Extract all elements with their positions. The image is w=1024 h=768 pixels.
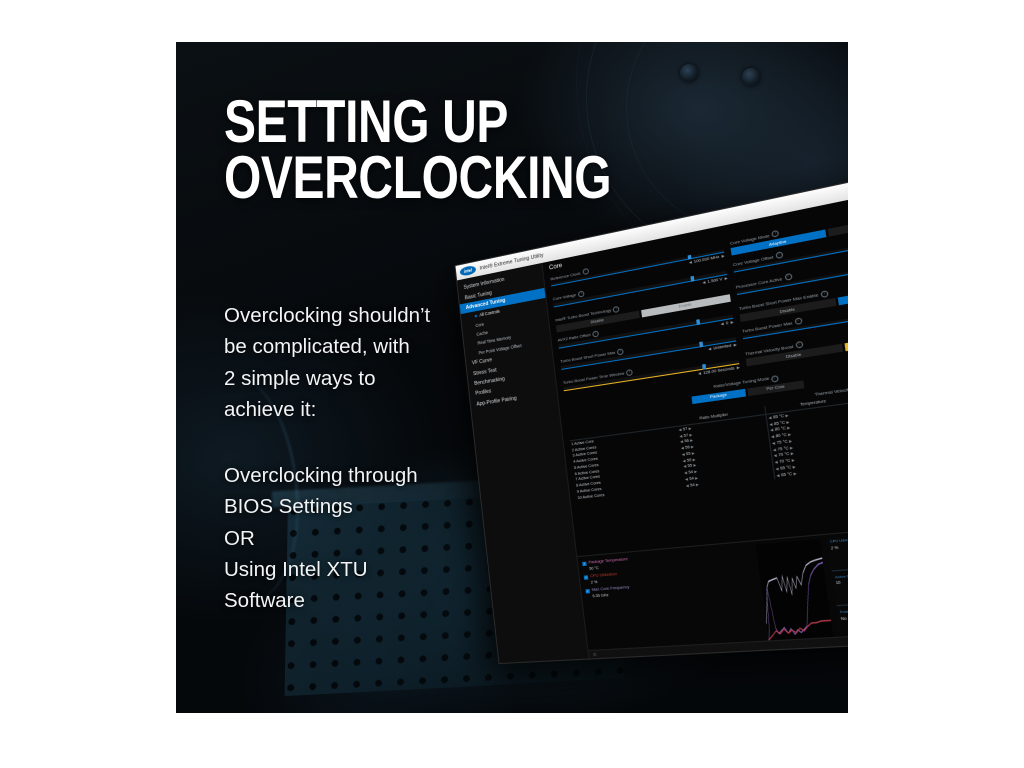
info-icon[interactable]: i <box>592 330 599 337</box>
ratio-value: 54 <box>690 482 695 487</box>
status-bar-icon[interactable] <box>593 653 597 657</box>
bullet-icon: ◆ <box>474 313 478 318</box>
poster-canvas: SETTING UP OVERCLOCKING Overclocking sho… <box>0 0 1024 768</box>
intro-line-3: 2 simple ways to <box>224 363 494 394</box>
intro-line-4: achieve it: <box>224 394 494 425</box>
slider-knob[interactable] <box>700 342 703 347</box>
increment-icon[interactable]: ▶ <box>721 254 725 259</box>
checkbox-icon[interactable]: ✓ <box>585 589 590 594</box>
decrement-icon[interactable]: ◀ <box>708 346 712 351</box>
intel-logo-icon: intel <box>460 265 477 277</box>
decrement-icon[interactable]: ◀ <box>702 280 705 285</box>
temperature-value: 65 °C <box>781 471 793 477</box>
info-icon[interactable]: i <box>578 290 585 297</box>
slider-knob[interactable] <box>703 364 706 369</box>
monitor-legend-panel: ✓ Package Temperature 50 °C ✓ <box>577 542 766 659</box>
tile-active-core-count: Active Core Count 10 <box>832 570 848 607</box>
increment-icon[interactable]: ▶ <box>733 342 737 347</box>
ratio-value: 54 <box>688 470 693 475</box>
tile-label: Active Core Count <box>835 572 848 580</box>
intro-line-1: Overclocking shouldn’t <box>224 300 494 331</box>
decrement-icon[interactable]: ◀ <box>720 321 724 326</box>
ratio-value: 56 <box>684 439 689 444</box>
option-line-1: Overclocking through <box>224 460 504 491</box>
option-line-2: BIOS Settings <box>224 491 504 522</box>
increment-icon[interactable]: ▶ <box>736 365 740 370</box>
legend-value: 2 % <box>591 578 619 586</box>
headline-line-2: OVERCLOCKING <box>224 150 672 206</box>
ratio-value: 57 <box>683 426 688 431</box>
info-icon[interactable]: i <box>582 268 589 275</box>
ratio-value: 55 <box>687 464 692 469</box>
ratio-value: 56 <box>685 445 690 450</box>
ratio-value: 54 <box>689 476 694 481</box>
checkbox-icon[interactable]: ✓ <box>582 561 587 566</box>
intro-line-2: be complicated, with <box>224 331 494 362</box>
ratio-value: 55 <box>687 457 692 462</box>
ratio-spinner[interactable]: ◀54▶ <box>686 482 699 488</box>
page-title: SETTING UP OVERCLOCKING <box>224 94 672 206</box>
slider-knob[interactable] <box>691 276 694 281</box>
option-line-5: Software <box>224 585 504 616</box>
option-line-3: OR <box>224 523 504 554</box>
decrement-icon[interactable]: ◀ <box>689 260 692 265</box>
xtu-main-panel: Core Reference Clock i <box>542 183 848 659</box>
increment-icon[interactable]: ▶ <box>724 276 728 281</box>
options-paragraph: Overclocking through BIOS Settings OR Us… <box>224 460 504 617</box>
info-icon[interactable]: i <box>775 251 783 259</box>
ratio-value: 55 <box>686 451 691 456</box>
checkbox-icon[interactable]: ✓ <box>584 575 589 580</box>
info-icon[interactable]: i <box>784 273 792 281</box>
intro-paragraph: Overclocking shouldn’t be complicated, w… <box>224 300 494 425</box>
avx2-ratio-offset-value: 0 <box>726 321 729 326</box>
info-icon[interactable]: i <box>613 305 620 312</box>
tile-label: Power Throttling <box>840 608 848 615</box>
info-icon[interactable]: i <box>770 375 778 383</box>
info-icon[interactable]: i <box>820 290 828 298</box>
screw-icon <box>742 68 760 86</box>
graph-svg <box>756 539 835 646</box>
screw-icon <box>680 64 698 82</box>
info-icon[interactable]: i <box>794 317 802 325</box>
option-line-4: Using Intel XTU <box>224 554 504 585</box>
info-icon[interactable]: i <box>626 369 633 376</box>
ratio-value: 57 <box>683 433 688 438</box>
slider-knob[interactable] <box>697 320 700 325</box>
info-icon[interactable]: i <box>771 230 779 238</box>
info-icon[interactable]: i <box>617 348 624 355</box>
tile-cpu-utilization: CPU Utilization 2 % <box>827 534 848 571</box>
hero-photo: SETTING UP OVERCLOCKING Overclocking sho… <box>176 42 848 713</box>
decrement-icon[interactable]: ◀ <box>698 371 701 376</box>
info-icon[interactable]: i <box>795 341 803 349</box>
slider-knob[interactable] <box>688 254 691 259</box>
monitoring-graph <box>756 539 835 646</box>
headline-line-1: SETTING UP <box>224 94 672 150</box>
temperature-spinner[interactable]: ◀65 °C▶ <box>776 471 797 478</box>
increment-icon[interactable]: ▶ <box>730 320 734 325</box>
